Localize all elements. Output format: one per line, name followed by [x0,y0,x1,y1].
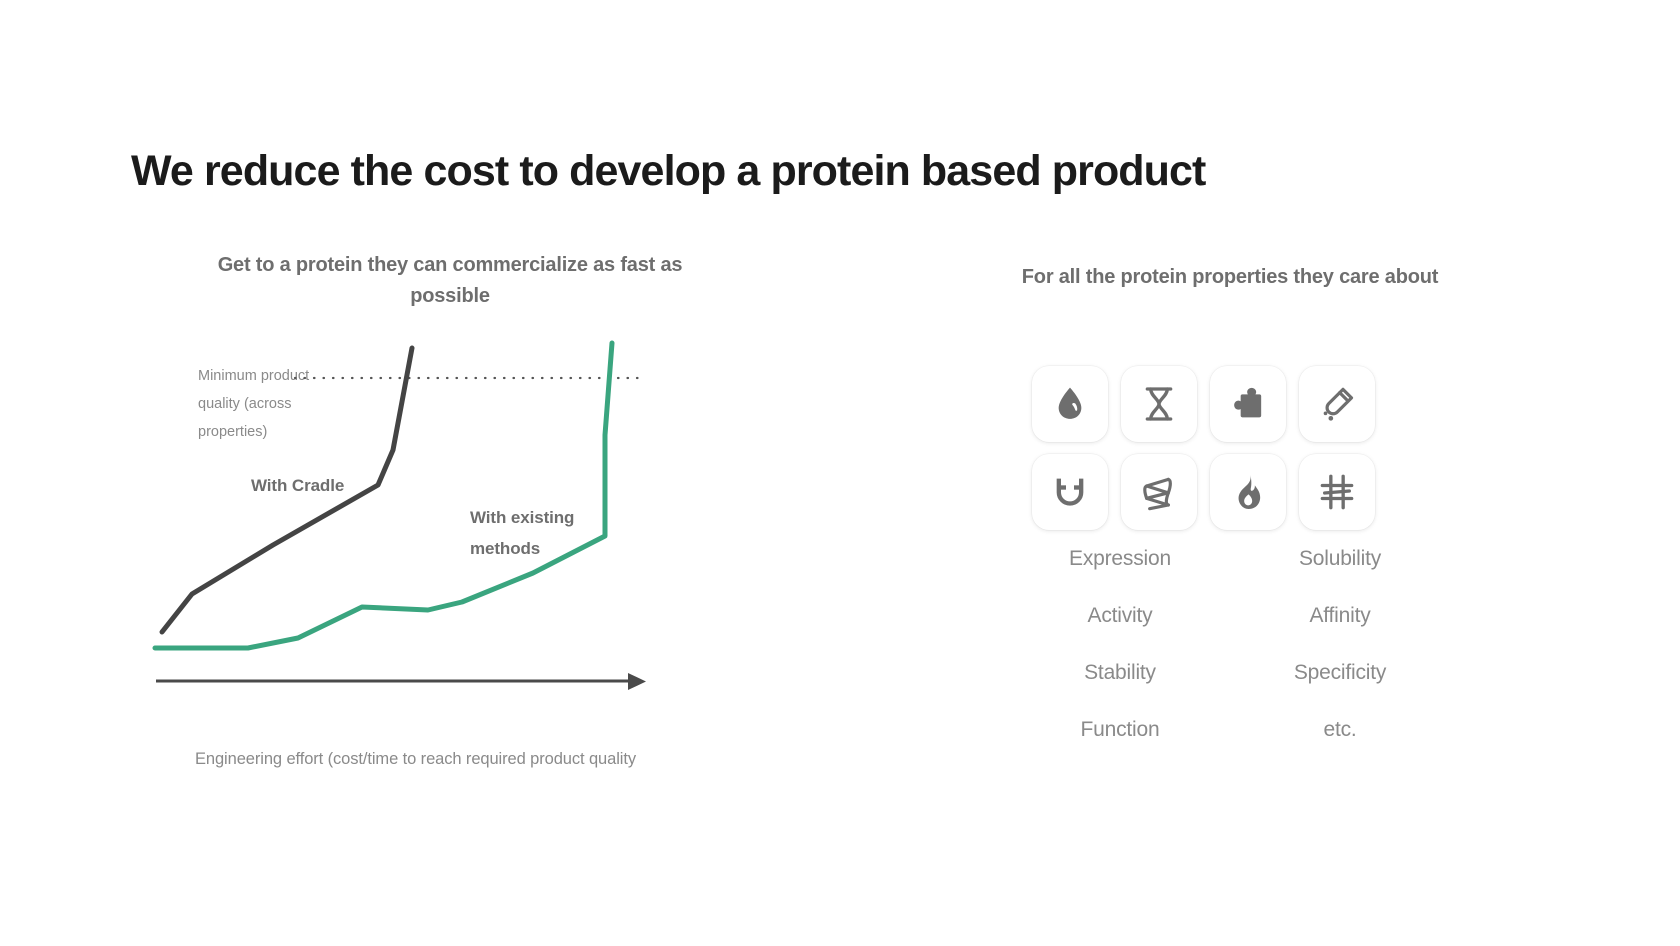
series-line-cradle [162,348,412,632]
series-line-existing [155,343,612,648]
hourglass-icon[interactable] [1121,366,1197,442]
puzzle-piece-icon[interactable] [1210,366,1286,442]
flame-icon[interactable] [1210,454,1286,530]
property-label: Specificity [1294,644,1386,701]
chart-heading: Get to a protein they can commercialize … [190,250,710,312]
property-column-right: Solubility Affinity Specificity etc. [1230,530,1450,758]
property-label: Activity [1088,587,1153,644]
properties-heading: For all the protein properties they care… [1010,262,1450,292]
property-label-columns: Expression Activity Stability Function S… [1010,530,1450,758]
magnet-icon[interactable] [1032,454,1108,530]
property-label: Expression [1069,530,1171,587]
chart-panel: Get to a protein they can commercialize … [150,250,750,790]
x-axis-caption: Engineering effort (cost/time to reach r… [195,750,636,769]
molecule-structure-icon[interactable] [1299,454,1375,530]
property-label: Solubility [1299,530,1381,587]
property-label: Function [1081,701,1160,758]
slide-canvas: We reduce the cost to develop a protein … [0,0,1680,946]
chart-plot-area [150,335,750,755]
page-title: We reduce the cost to develop a protein … [131,147,1205,196]
test-tube-icon[interactable] [1299,366,1375,442]
property-icon-grid [1032,366,1388,542]
property-column-left: Expression Activity Stability Function [1010,530,1230,758]
property-label: Stability [1084,644,1156,701]
property-label: etc. [1323,701,1356,758]
property-label: Affinity [1309,587,1370,644]
x-axis-arrowhead [628,673,646,690]
chart-svg [150,335,750,755]
droplet-icon[interactable] [1032,366,1108,442]
properties-panel: For all the protein properties they care… [1010,262,1450,782]
spring-coil-icon[interactable] [1121,454,1197,530]
